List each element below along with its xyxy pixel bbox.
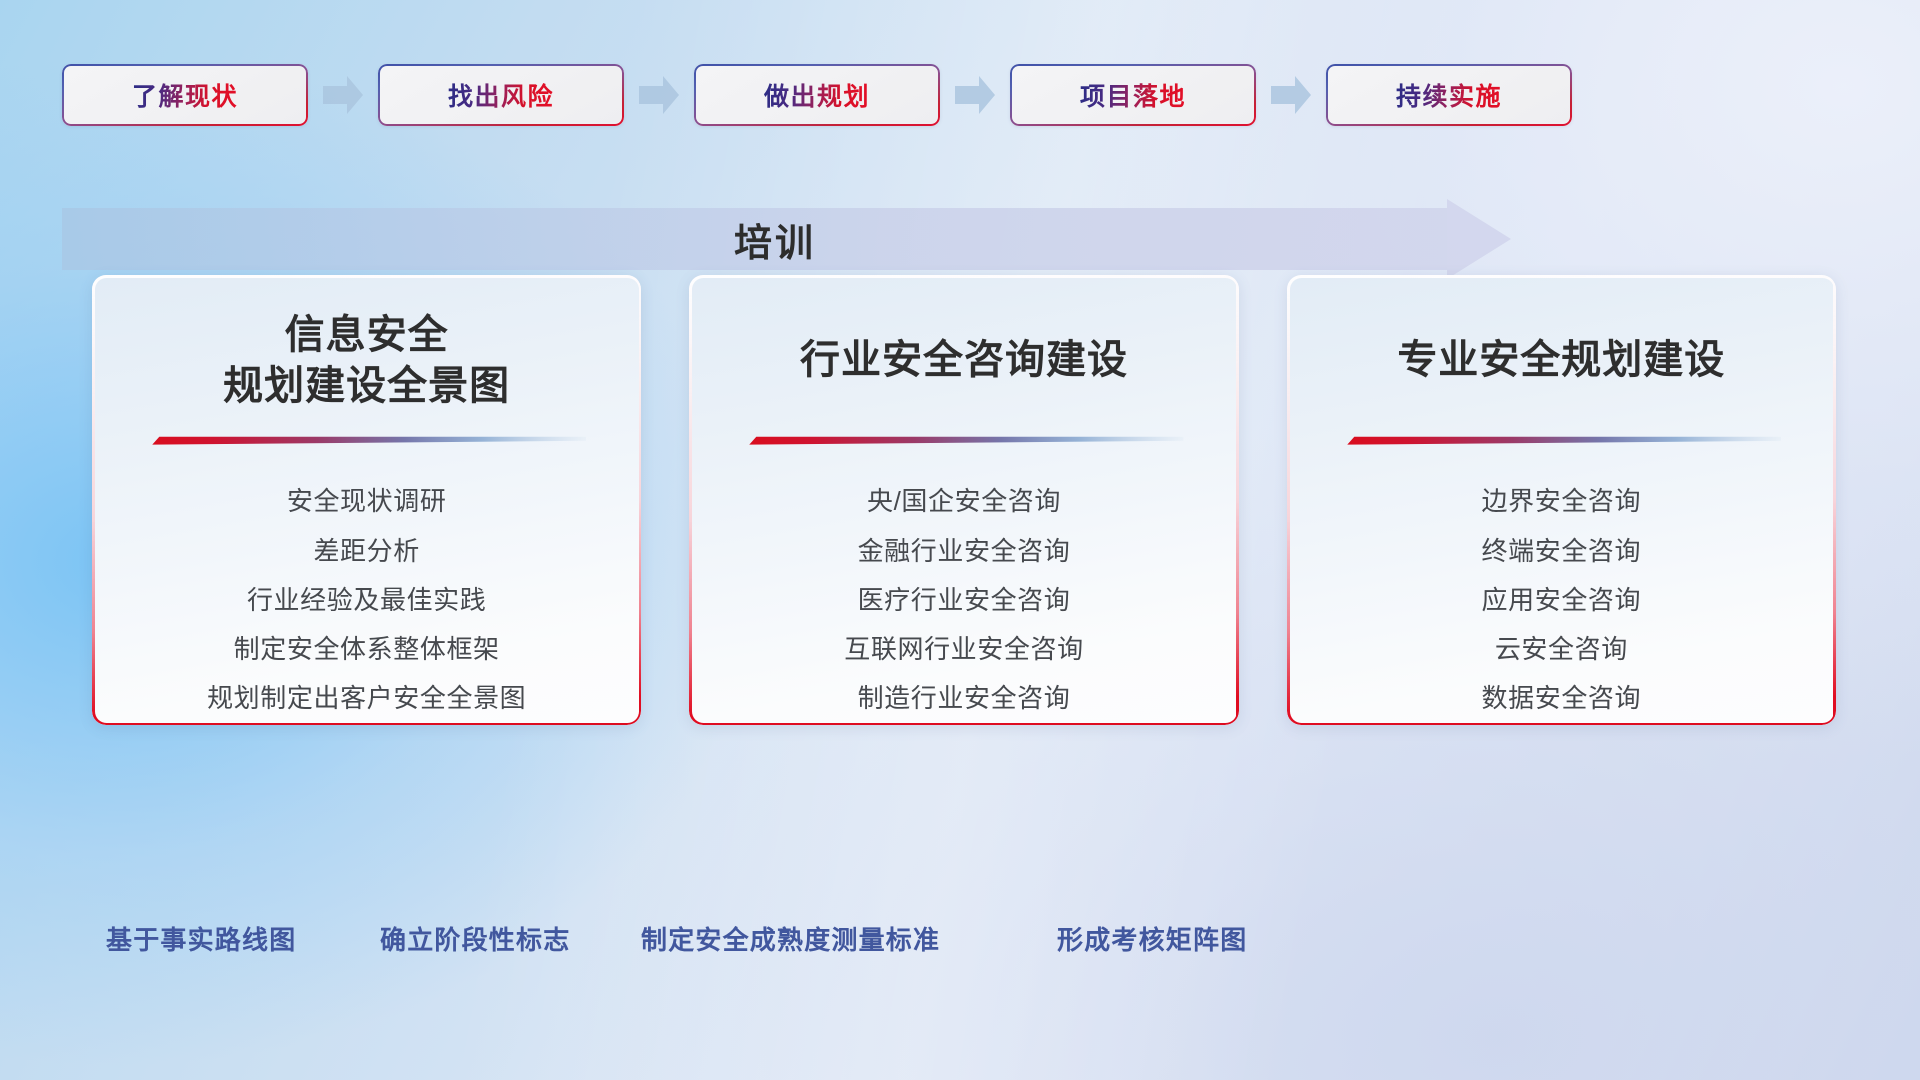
footnote-row: 基于事实路线图确立阶段性标志制定安全成熟度测量标准形成考核矩阵图	[0, 920, 1920, 970]
list-item: 云安全咨询	[1495, 628, 1628, 670]
list-item: 应用安全咨询	[1482, 579, 1642, 621]
process-step-4[interactable]: 项目落地	[1010, 64, 1256, 126]
service-card-1[interactable]: 信息安全规划建设全景图安全现状调研差距分析行业经验及最佳实践制定安全体系整体框架…	[92, 275, 641, 725]
service-card-body: 行业安全咨询建设央/国企安全咨询金融行业安全咨询医疗行业安全咨询互联网行业安全咨…	[689, 275, 1238, 725]
service-card-body: 信息安全规划建设全景图安全现状调研差距分析行业经验及最佳实践制定安全体系整体框架…	[92, 275, 641, 725]
process-step-5[interactable]: 持续实施	[1326, 64, 1572, 126]
process-step-label: 持续实施	[1396, 77, 1502, 113]
service-card-list: 央/国企安全咨询金融行业安全咨询医疗行业安全咨询互联网行业安全咨询制造行业安全咨…	[719, 480, 1208, 719]
service-card-list: 边界安全咨询终端安全咨询应用安全咨询云安全咨询数据安全咨询	[1317, 480, 1806, 719]
list-item: 终端安全咨询	[1482, 530, 1642, 572]
card-accent-divider	[1342, 435, 1781, 446]
process-step-label: 了解现状	[132, 77, 238, 113]
list-item: 差距分析	[313, 530, 419, 572]
process-step-label: 项目落地	[1080, 77, 1186, 113]
list-item: 制定安全体系整体框架	[234, 628, 500, 670]
arrow-right-icon	[321, 74, 365, 116]
list-item: 央/国企安全咨询	[867, 480, 1061, 522]
training-banner: 培训	[62, 208, 1512, 270]
list-item: 制造行业安全咨询	[858, 677, 1071, 719]
list-item: 互联网行业安全咨询	[844, 628, 1083, 670]
process-step-3[interactable]: 做出规划	[694, 64, 940, 126]
service-card-title: 行业安全咨询建设	[719, 309, 1208, 413]
process-step-1[interactable]: 了解现状	[62, 64, 308, 126]
process-step-label: 找出风险	[448, 77, 554, 113]
list-item: 金融行业安全咨询	[858, 530, 1071, 572]
card-accent-divider	[744, 435, 1183, 446]
list-item: 边界安全咨询	[1482, 480, 1642, 522]
arrow-right-icon	[637, 74, 681, 116]
service-card-list: 安全现状调研差距分析行业经验及最佳实践制定安全体系整体框架规划制定出客户安全全景…	[122, 480, 611, 719]
service-card-title-line: 专业安全规划建设	[1317, 335, 1806, 386]
service-card-title: 专业安全规划建设	[1317, 309, 1806, 413]
footnote-label-2: 确立阶段性标志	[380, 920, 570, 957]
service-card-title-line: 规划建设全景图	[122, 361, 611, 412]
service-card-2[interactable]: 行业安全咨询建设央/国企安全咨询金融行业安全咨询医疗行业安全咨询互联网行业安全咨…	[689, 275, 1238, 725]
service-card-title-line: 信息安全	[122, 310, 611, 361]
card-accent-divider	[147, 435, 586, 446]
list-item: 安全现状调研	[287, 480, 447, 522]
service-card-group: 信息安全规划建设全景图安全现状调研差距分析行业经验及最佳实践制定安全体系整体框架…	[92, 275, 1836, 725]
arrow-right-icon	[953, 74, 997, 116]
process-step-2[interactable]: 找出风险	[378, 64, 624, 126]
list-item: 数据安全咨询	[1482, 677, 1642, 719]
arrow-right-icon	[1269, 74, 1313, 116]
footnote-label-3: 制定安全成熟度测量标准	[641, 920, 940, 957]
service-card-title: 信息安全规划建设全景图	[122, 309, 611, 413]
process-step-row: 了解现状找出风险做出规划项目落地持续实施	[62, 63, 1858, 127]
banner-title: 培训	[62, 208, 1512, 270]
service-card-body: 专业安全规划建设边界安全咨询终端安全咨询应用安全咨询云安全咨询数据安全咨询	[1287, 275, 1836, 725]
list-item: 医疗行业安全咨询	[858, 579, 1071, 621]
list-item: 规划制定出客户安全全景图	[207, 677, 526, 719]
process-step-label: 做出规划	[764, 77, 870, 113]
service-card-title-line: 行业安全咨询建设	[719, 335, 1208, 386]
footnote-label-4: 形成考核矩阵图	[1057, 920, 1247, 957]
list-item: 行业经验及最佳实践	[247, 579, 486, 621]
service-card-3[interactable]: 专业安全规划建设边界安全咨询终端安全咨询应用安全咨询云安全咨询数据安全咨询	[1287, 275, 1836, 725]
footnote-label-1: 基于事实路线图	[106, 920, 296, 957]
